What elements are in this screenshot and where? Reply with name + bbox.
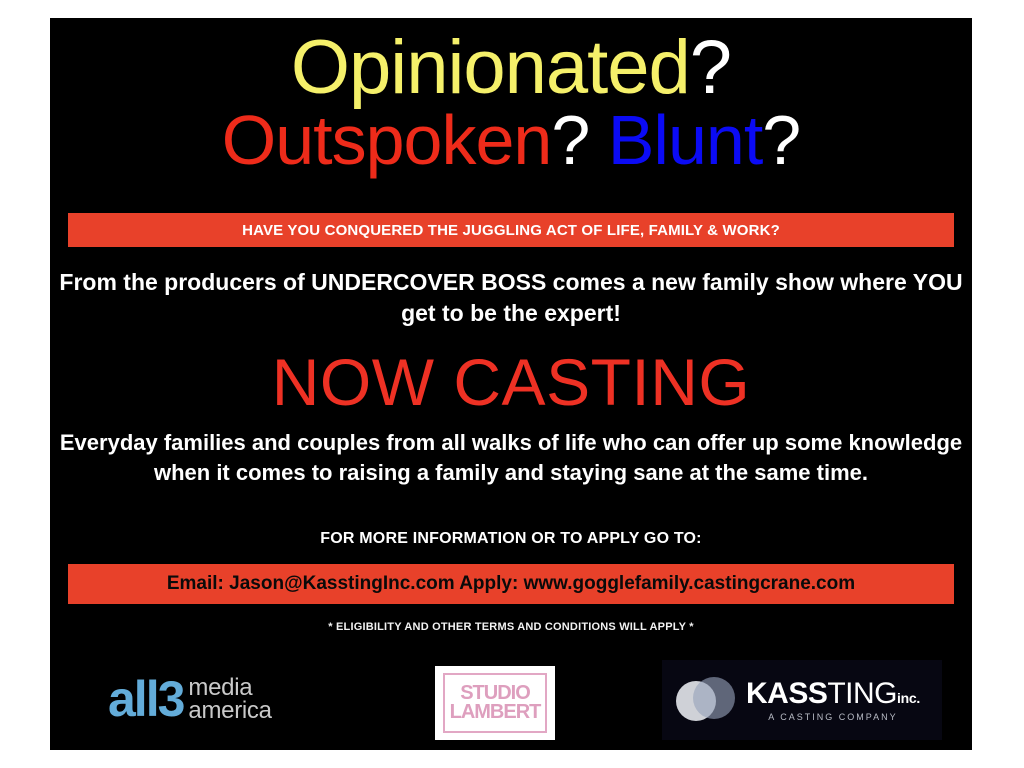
kassting-text-block: KASSTINGinc. A CASTING COMPANY <box>746 679 920 722</box>
eligibility-note: * ELIGIBILITY AND OTHER TERMS AND CONDIT… <box>50 621 972 633</box>
now-casting-headline: NOW CASTING <box>50 349 972 415</box>
headline-line-2: Outspoken? Blunt? <box>50 107 972 174</box>
kassting-circles-icon <box>676 677 738 723</box>
apply-instruction: FOR MORE INFORMATION OR TO APPLY GO TO: <box>50 530 972 548</box>
all3media-america-logo: all3 media america <box>108 676 272 723</box>
headline: Opinionated? Outspoken? Blunt? <box>50 32 972 174</box>
kassting-logo: KASSTINGinc. A CASTING COMPANY <box>662 660 942 740</box>
headline-line-1: Opinionated? <box>50 32 972 105</box>
contact-banner[interactable]: Email: Jason@KasstingInc.com Apply: www.… <box>68 564 954 604</box>
kassting-suffix: inc. <box>897 690 920 706</box>
studio-lambert-line-2: LAMBERT <box>450 703 541 722</box>
kassting-wordmark: KASSTINGinc. <box>746 679 920 709</box>
kassting-name-bold: KASS <box>746 677 827 710</box>
headline-question-mark-1: ? <box>690 25 731 110</box>
kassting-name-light: TING <box>827 677 897 710</box>
all3-word-america: america <box>188 699 271 722</box>
logo-strip: all3 media america STUDIO LAMBERT KASSTI… <box>50 648 972 750</box>
intro-copy: From the producers of UNDERCOVER BOSS co… <box>50 267 972 328</box>
all3-word-media: media <box>188 676 271 699</box>
headline-word-blunt: Blunt <box>589 101 762 179</box>
description-copy: Everyday families and couples from all w… <box>50 428 972 488</box>
studio-lambert-logo: STUDIO LAMBERT <box>435 666 555 740</box>
kassting-circle-grey <box>693 677 735 719</box>
kassting-tagline: A CASTING COMPANY <box>746 713 920 722</box>
studio-lambert-frame: STUDIO LAMBERT <box>443 673 547 733</box>
headline-word-opinionated: Opinionated <box>291 25 690 110</box>
contact-banner-text[interactable]: Email: Jason@KasstingInc.com Apply: www.… <box>167 573 855 595</box>
question-banner: HAVE YOU CONQUERED THE JUGGLING ACT OF L… <box>68 213 954 247</box>
all3-media-america-text: media america <box>188 676 271 723</box>
question-banner-text: HAVE YOU CONQUERED THE JUGGLING ACT OF L… <box>242 222 780 239</box>
headline-word-outspoken: Outspoken <box>222 101 552 179</box>
headline-question-mark-2: ? <box>551 101 589 179</box>
headline-question-mark-3: ? <box>762 101 800 179</box>
poster-canvas: Opinionated? Outspoken? Blunt? HAVE YOU … <box>50 18 972 750</box>
all3-wordmark: all3 <box>108 677 183 722</box>
